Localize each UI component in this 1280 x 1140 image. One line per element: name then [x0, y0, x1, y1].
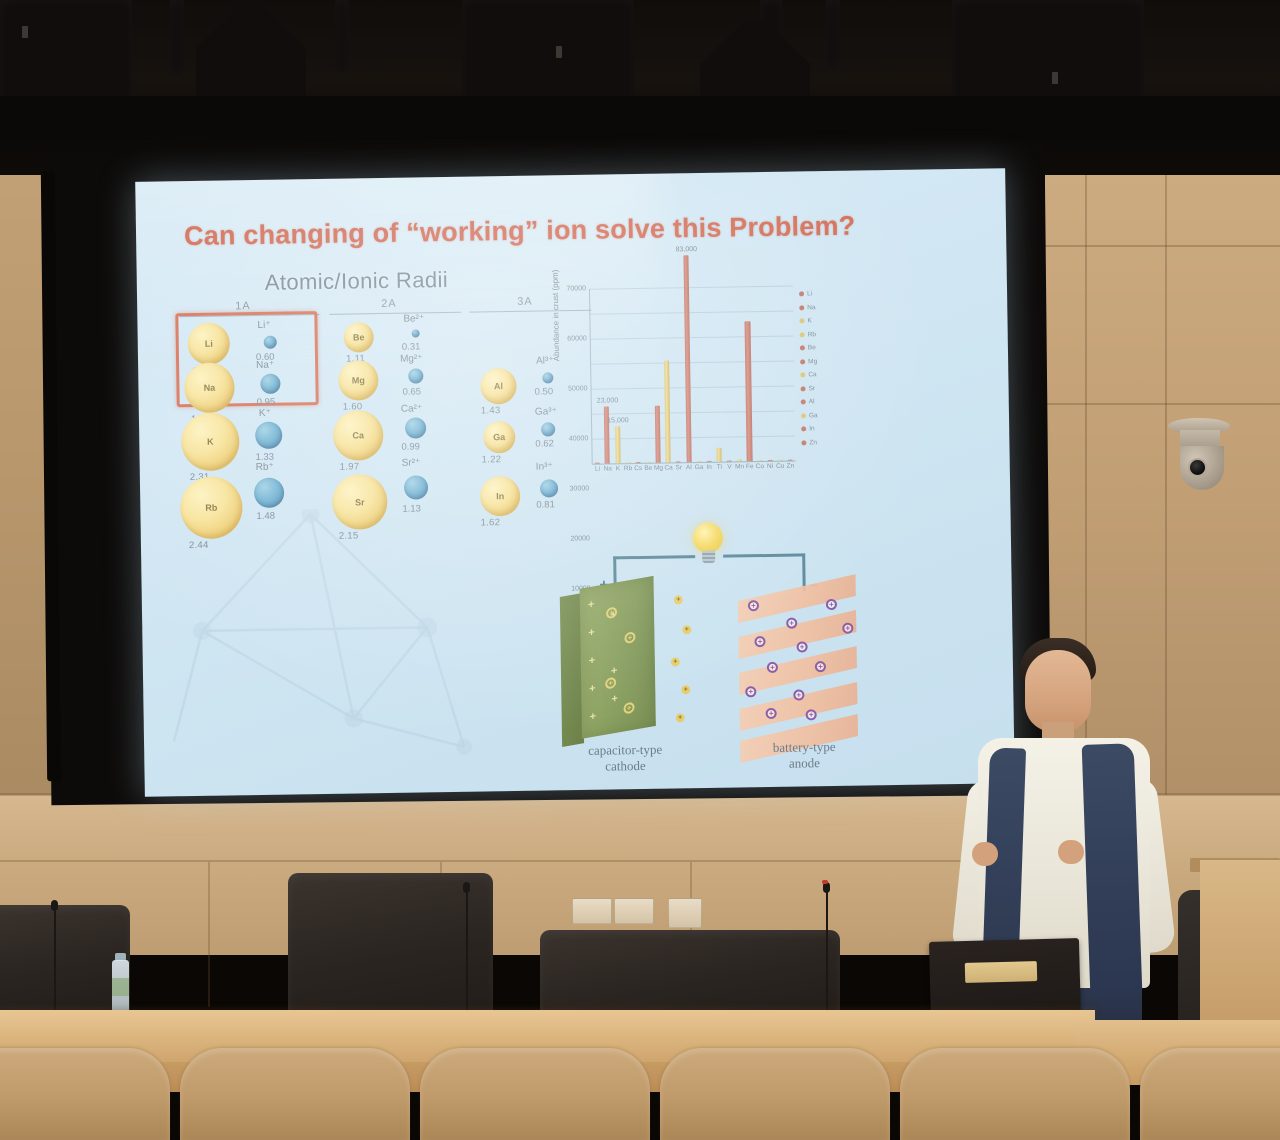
atom-symbol-Rb: Rb	[205, 503, 217, 513]
wire-left-horizontal	[613, 555, 695, 559]
legend-swatch-icon	[800, 373, 805, 378]
migrating-ion: +	[681, 685, 690, 694]
ion-sphere-Sr	[404, 475, 428, 499]
chart-bar-K	[615, 426, 621, 464]
chart-x-tick-label: V	[727, 464, 731, 471]
presenter-head	[1025, 650, 1091, 732]
atom-radius-Ga: 1.22	[482, 454, 502, 465]
chart-bar-Co	[757, 460, 762, 462]
panel-chair-center	[288, 873, 493, 1018]
chart-y-tick-label: 30000	[570, 485, 590, 492]
ion-sphere-Be	[412, 329, 420, 337]
wire-right-horizontal	[723, 553, 805, 557]
intercalated-ion: +	[754, 636, 765, 647]
ion-symbol-Rb: Rb⁺	[256, 462, 274, 473]
legend-label: Rb	[808, 331, 816, 338]
stage-light-3	[335, 0, 349, 74]
ion-symbol-Al: Al³⁺	[536, 355, 554, 366]
audience-seat	[900, 1048, 1130, 1140]
ion-sphere-Rb	[254, 478, 284, 508]
chart-legend-item: Al	[801, 395, 845, 409]
ion-symbol-Be: Be²⁺	[403, 313, 424, 324]
ion-symbol-K: K⁺	[259, 408, 271, 419]
projection-screen: Can changing of “working” ion solve this…	[135, 168, 1015, 797]
intercalated-ion: +	[842, 623, 853, 634]
legend-swatch-icon	[801, 386, 806, 391]
panel-chair-left	[0, 905, 130, 1015]
ion-radius-In: 0.81	[536, 499, 555, 510]
chart-x-tick-label: Cu	[776, 463, 784, 470]
chart-bar-Ni	[767, 459, 772, 461]
chart-gridline: 40000	[591, 361, 794, 365]
chart-legend-item: K	[799, 314, 843, 328]
chart-plot-area: 010000200003000040000500006000070000LiNa…	[589, 286, 796, 465]
ion-symbol-Li: Li⁺	[257, 320, 270, 331]
intercalated-ion: +	[745, 686, 756, 697]
wall-socket-3	[668, 898, 702, 928]
ion-radius-Na: 0.95	[257, 397, 276, 408]
ion-radius-Sr: 1.13	[402, 503, 421, 514]
audience-seat	[180, 1048, 410, 1140]
atom-symbol-Ca: Ca	[352, 430, 364, 440]
anode-caption-line2: anode	[734, 755, 874, 773]
chart-legend-item: In	[801, 422, 845, 436]
stage-light-5	[826, 0, 840, 70]
legend-label: Be	[808, 344, 816, 351]
wall-socket-2	[614, 898, 654, 924]
ion-symbol-Sr: Sr²⁺	[402, 457, 421, 468]
chart-bar-Cs	[636, 461, 641, 463]
chart-bar-Fe	[745, 321, 752, 461]
laptop-nameplate	[965, 961, 1037, 983]
atom-radius-In: 1.62	[481, 517, 501, 528]
ion-radius-Ga: 0.62	[535, 438, 554, 449]
chart-x-tick-label: Ti	[717, 464, 722, 471]
camera-lens-icon	[1188, 458, 1207, 477]
ion-radius-Al: 0.50	[534, 386, 553, 397]
chart-gridline: 70000	[590, 286, 793, 290]
light-bulb-icon	[693, 523, 723, 553]
chart-legend-item: Na	[799, 300, 843, 314]
legend-swatch-icon	[800, 346, 805, 351]
ion-symbol-Na: Na⁺	[256, 360, 274, 371]
chart-data-label: 23,000	[597, 397, 619, 404]
migrating-ion: +	[676, 713, 685, 722]
audience-seat	[0, 1048, 170, 1140]
audience-seat	[660, 1048, 890, 1140]
chart-bar-Ga	[696, 461, 701, 463]
group-column-1A: 1A Li 1.52 Li⁺ 0.60 Na	[179, 299, 329, 301]
ion-symbol-In: In³⁺	[536, 461, 553, 472]
cathode-stored-ion: +	[623, 702, 634, 715]
microphone-stand-left	[54, 908, 56, 1013]
legend-label: Al	[809, 398, 815, 405]
bottle-label	[112, 978, 129, 996]
ion-radius-Ca: 0.99	[401, 441, 420, 452]
chart-gridline: 50000	[591, 336, 794, 340]
legend-label: K	[807, 318, 811, 325]
atom-symbol-Na: Na	[204, 383, 216, 393]
cathode-stored-ion: +	[605, 677, 616, 690]
atom-symbol-Al: Al	[494, 381, 503, 391]
atom-radius-Ca: 1.97	[340, 461, 360, 472]
panel-chair-right	[540, 930, 840, 1018]
atom-sphere-Mg: Mg	[338, 360, 379, 401]
chart-x-tick-label: In	[706, 464, 712, 471]
lecture-hall-photo: Can changing of “working” ion solve this…	[0, 0, 1280, 1140]
wall-seam-3	[1045, 403, 1280, 405]
atom-sphere-Rb: Rb	[180, 476, 243, 539]
anode-caption: battery-type anode	[734, 738, 874, 773]
wall-seam-4	[1045, 245, 1280, 247]
legend-label: Sr	[808, 385, 815, 392]
chart-gridline: 30000	[592, 386, 795, 390]
atomic-ionic-radii-table: 1A Li 1.52 Li⁺ 0.60 Na	[179, 295, 603, 582]
group-rule-2A	[329, 312, 461, 315]
intercalated-ion: +	[793, 689, 804, 700]
ion-symbol-Ca: Ca²⁺	[401, 403, 423, 414]
group-header-3A: 3A	[517, 296, 533, 308]
intercalated-ion: +	[815, 661, 826, 672]
cathode-charge-mark: +	[588, 626, 595, 639]
chart-bar-V	[727, 460, 732, 462]
chart-x-tick-label: Al	[686, 464, 692, 471]
ion-sphere-In	[540, 479, 558, 497]
microphone-head-left	[51, 900, 58, 911]
chart-y-tick-label: 40000	[569, 435, 589, 442]
atom-sphere-K: K	[181, 412, 240, 471]
microphone-stand-center	[466, 890, 468, 1015]
legend-label: Ga	[809, 412, 818, 419]
ion-symbol-Mg: Mg²⁺	[400, 353, 423, 364]
chart-x-tick-label: Ca	[664, 464, 672, 471]
cathode-charge-mark: +	[589, 654, 596, 667]
chart-bar-Zn	[788, 459, 793, 461]
ion-sphere-Al	[542, 372, 553, 383]
legend-label: Na	[807, 304, 815, 311]
cathode-charge-mark: +	[590, 710, 597, 723]
wall-trim-3	[208, 862, 210, 1007]
stage-light-1-led	[22, 26, 28, 38]
chart-y-tick-label: 50000	[568, 385, 588, 392]
cathode-charge-mark: +	[589, 682, 596, 695]
ceiling-truss	[0, 0, 1280, 148]
chart-legend-item: Rb	[800, 327, 844, 341]
ion-radius-Be: 0.31	[402, 341, 421, 352]
cathode-charge-mark: +	[611, 664, 618, 677]
presenter-vest-right	[1082, 743, 1143, 995]
atom-radius-Rb: 2.44	[189, 540, 209, 551]
chart-bar-Ti	[717, 448, 722, 462]
chart-legend-item: Li	[799, 287, 843, 301]
chart-x-tick-label: Na	[603, 465, 611, 472]
chart-legend-item: Zn	[801, 435, 845, 449]
atom-symbol-Ga: Ga	[493, 432, 505, 442]
stage-light-2	[170, 0, 184, 76]
group-header-2A: 2A	[381, 298, 397, 310]
ion-sphere-Li	[264, 336, 277, 349]
intercalated-ion: +	[767, 662, 778, 673]
cathode-charge-mark: +	[611, 692, 618, 705]
legend-swatch-icon	[801, 400, 806, 405]
cathode-caption-line2: cathode	[550, 757, 700, 776]
ion-sphere-Ca	[405, 417, 426, 438]
chart-legend-item: Sr	[800, 381, 844, 395]
atom-radius-Sr: 2.15	[339, 530, 359, 541]
legend-label: Ca	[808, 371, 816, 378]
legend-swatch-icon	[800, 332, 805, 337]
atom-symbol-K: K	[207, 437, 214, 447]
intercalated-ion: +	[797, 641, 808, 652]
legend-swatch-icon	[801, 413, 806, 418]
chart-bar-Al	[683, 255, 691, 463]
group-column-2A: 2A Be 1.11 Be²⁺ 0.31 Mg 1.60 Mg²⁺	[329, 297, 469, 299]
slide-subtitle: Atomic/Ionic Radii	[265, 267, 449, 296]
chart-gridline: 10000	[592, 436, 795, 440]
migrating-ion: +	[682, 625, 691, 634]
chart-x-tick-label: Ga	[695, 464, 704, 471]
atom-symbol-Be: Be	[353, 332, 365, 342]
legend-label: In	[809, 425, 815, 432]
audience-seat	[1140, 1048, 1280, 1140]
chart-x-tick-label: Sr	[675, 464, 682, 471]
chart-gridline: 60000	[590, 311, 793, 315]
legend-swatch-icon	[801, 440, 806, 445]
legend-label: Mg	[808, 358, 817, 365]
capacitor-cathode-block: + + + + + + + + + + + +	[580, 576, 656, 739]
legend-swatch-icon	[799, 305, 804, 310]
chart-bar-Mg	[655, 405, 661, 463]
ion-sphere-Mg	[408, 368, 423, 383]
wall-socket-1	[572, 898, 612, 924]
audience-seat-row	[0, 1055, 1280, 1140]
ion-symbol-Ga: Ga³⁺	[535, 406, 557, 417]
chart-legend-item: Mg	[800, 354, 844, 368]
chart-x-tick-label: K	[616, 465, 620, 472]
atom-symbol-Sr: Sr	[355, 497, 365, 507]
legend-label: Zn	[809, 439, 817, 446]
chart-x-tick-label: Fe	[746, 463, 754, 470]
intercalated-ion: +	[766, 708, 777, 719]
chart-bar-Na	[604, 406, 610, 464]
cathode-stored-ion: +	[624, 631, 635, 644]
chart-x-tick-label: Cs	[634, 465, 642, 472]
intercalated-ion: +	[748, 600, 759, 611]
chart-legend-item: Be	[800, 341, 844, 355]
chart-legend-item: Ca	[800, 368, 844, 382]
atom-sphere-In: In	[480, 476, 521, 517]
legend-label: Li	[807, 291, 812, 298]
chart-bar-Mn	[737, 459, 742, 461]
atom-sphere-Sr: Sr	[332, 474, 388, 530]
atom-sphere-Al: Al	[480, 368, 517, 405]
chart-x-tick-label: Ni	[767, 463, 773, 470]
battery-schematic: + − + + + + + + + + + + + + + + + + +	[541, 520, 885, 775]
chart-x-tick-label: Zn	[787, 463, 795, 470]
legend-swatch-icon	[799, 319, 804, 324]
legend-swatch-icon	[801, 427, 806, 432]
chart-y-tick-label: 70000	[566, 285, 586, 292]
chart-bar-Cu	[778, 459, 783, 461]
chart-data-label: 15,000	[607, 417, 629, 424]
slide-title: Can changing of “working” ion solve this…	[184, 209, 944, 252]
microphone-head-center	[463, 882, 470, 893]
chart-gridline: 20000	[592, 411, 795, 415]
chart-y-tick-label: 60000	[567, 335, 587, 342]
podium	[1200, 860, 1280, 1040]
chart-bar-Rb	[625, 462, 630, 464]
presenter-right-hand	[1058, 840, 1084, 864]
chart-bar-Be	[646, 461, 651, 463]
wall-trim-2	[0, 860, 1060, 862]
chart-x-tick-label: Be	[644, 465, 652, 472]
chart-bar-Ca	[664, 360, 671, 463]
chart-legend-item: Ga	[801, 408, 845, 422]
migrating-ion: +	[674, 595, 683, 604]
audience-seat	[420, 1048, 650, 1140]
legend-swatch-icon	[800, 359, 805, 364]
chart-bar-In	[707, 460, 712, 462]
intercalated-ion: +	[806, 709, 817, 720]
projector-1-led	[556, 46, 562, 58]
chart-x-tick-label: Mn	[735, 463, 744, 470]
atom-symbol-Li: Li	[205, 339, 213, 349]
ion-sphere-K	[255, 422, 282, 449]
atom-sphere-Be: Be	[343, 322, 373, 352]
atom-symbol-Mg: Mg	[352, 375, 365, 385]
intercalated-ion: +	[826, 599, 837, 610]
chart-x-tick-label: Mg	[654, 465, 663, 472]
microphone-indicator-led	[822, 880, 828, 884]
speaker-box-right-led	[1052, 72, 1058, 84]
legend-swatch-icon	[799, 292, 804, 297]
cathode-caption: capacitor-type cathode	[550, 741, 700, 776]
ion-sphere-Ga	[541, 422, 555, 436]
chart-bar-Li	[595, 462, 600, 464]
ion-radius-Rb: 1.48	[256, 511, 275, 522]
atom-radius-Al: 1.43	[481, 405, 501, 416]
microphone-stand-right	[826, 890, 828, 1012]
chart-x-tick-label: Rb	[624, 465, 632, 472]
atom-symbol-In: In	[496, 491, 504, 501]
atom-sphere-Ca: Ca	[333, 410, 384, 461]
abundance-bar-chart: Abundance in crust (ppm) 010000200003000…	[555, 279, 848, 502]
chart-x-tick-label: Co	[756, 463, 764, 470]
bulb-base-icon	[702, 551, 715, 563]
presenter-left-hand	[972, 842, 998, 866]
atom-sphere-Ga: Ga	[483, 421, 515, 453]
migrating-ion: +	[671, 657, 680, 666]
ion-radius-Mg: 0.65	[402, 386, 421, 397]
cathode-charge-mark: +	[588, 598, 595, 611]
group-header-1A: 1A	[235, 300, 251, 312]
chart-bar-Sr	[676, 461, 681, 463]
chart-data-label: 83,000	[676, 246, 698, 253]
chart-x-tick-label: Li	[595, 466, 600, 473]
chart-legend: LiNaKRbBeMgCaSrAlGaInZn	[799, 287, 846, 450]
intercalated-ion: +	[786, 618, 797, 629]
